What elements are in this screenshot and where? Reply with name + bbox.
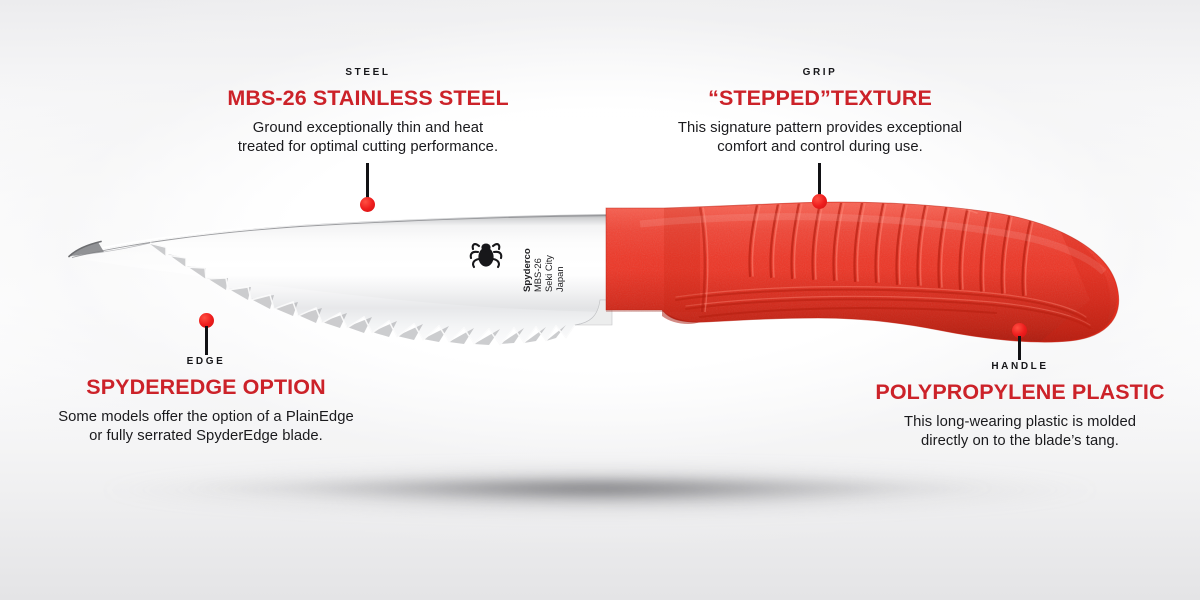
callout-kicker-edge: EDGE [0,357,436,367]
callout-headline-handle: POLYPROPYLENE PLASTIC [790,381,1200,404]
etch-line-steel: MBS-26 [532,258,543,292]
callout-kicker-grip: GRIP [590,68,1050,78]
callout-kicker-handle: HANDLE [790,362,1200,372]
callout-grip: GRIP “STEPPED”TEXTURE This signature pat… [590,68,1050,158]
callout-body-handle: This long-wearing plastic is molded dire… [790,413,1200,452]
callout-body-grip: This signature pattern provides exceptio… [590,119,1050,158]
callout-headline-grip: “STEPPED”TEXTURE [590,87,1050,110]
etch-line-city: Seki City [543,255,554,292]
etch-line-country: Japan [554,266,565,292]
callout-steel: STEEL MBS-26 STAINLESS STEEL Ground exce… [138,68,598,158]
knife-handle [590,190,1150,360]
callout-body-steel: Ground exceptionally thin and heat treat… [138,119,598,158]
leader-line-handle [1018,336,1021,360]
marker-dot-grip [812,194,827,209]
leader-line-steel [366,163,369,200]
callout-headline-steel: MBS-26 STAINLESS STEEL [138,87,598,110]
infographic-canvas: Spyderco MBS-26 Seki City Japan [0,0,1200,600]
marker-dot-steel [360,197,375,212]
callout-edge: EDGE SPYDEREDGE OPTION Some models offer… [0,357,436,447]
callout-body-edge: Some models offer the option of a PlainE… [0,408,436,447]
leader-line-edge [205,326,208,355]
callout-headline-edge: SPYDEREDGE OPTION [0,376,436,399]
callout-kicker-steel: STEEL [138,68,598,78]
callout-handle: HANDLE POLYPROPYLENE PLASTIC This long-w… [790,362,1200,452]
